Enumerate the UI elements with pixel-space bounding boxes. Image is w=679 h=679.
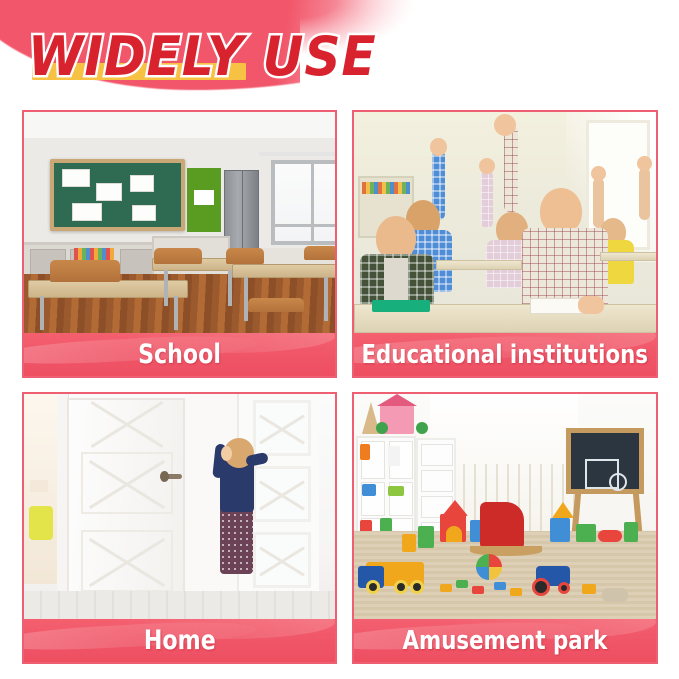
- toy-topiary: [416, 422, 428, 434]
- classroom-desk: [600, 252, 656, 261]
- desk-leg: [174, 296, 178, 330]
- desk-leg: [164, 270, 168, 306]
- toy-plush: [602, 588, 628, 602]
- wall-art: [30, 480, 48, 492]
- panel-school[interactable]: School: [22, 110, 337, 378]
- hand: [578, 296, 604, 314]
- classroom-chalkboard: [50, 159, 185, 231]
- toy-topiary: [376, 422, 388, 434]
- panel-label-text: School: [138, 340, 221, 370]
- widely-use-infographic: WIDELY USE: [0, 0, 679, 679]
- classroom-green-wall-panel: [187, 168, 221, 232]
- board-paper: [130, 175, 154, 192]
- panel-label-text: Educational institutions: [362, 340, 649, 370]
- truck-wheel: [394, 580, 408, 594]
- green-notebook: [372, 300, 430, 312]
- panel-label-text: Amusement park: [403, 626, 608, 656]
- door-glass-pane: [253, 532, 311, 588]
- panel-label-educational-institutions: Educational institutions: [354, 333, 656, 376]
- shelf-toy: [388, 446, 400, 466]
- panel-label-text: Home: [144, 626, 216, 656]
- toy-block: [550, 518, 570, 542]
- raised-arm: [593, 178, 604, 228]
- toy-block: [494, 582, 506, 590]
- board-paper: [62, 169, 90, 187]
- hand: [591, 166, 606, 181]
- classroom-curtain-rail: [259, 152, 335, 156]
- panel-label-home: Home: [24, 619, 335, 662]
- classroom-chair: [248, 298, 304, 312]
- truck-wheel: [410, 580, 424, 594]
- toy-ball: [476, 554, 502, 580]
- panel-label-school: School: [24, 333, 335, 376]
- shelf-toy: [362, 484, 376, 496]
- toy-block: [598, 530, 622, 542]
- wall-paper: [194, 190, 214, 205]
- photo-toddler-at-door: [24, 394, 335, 619]
- toy-block: [440, 584, 452, 592]
- desk-leg: [40, 296, 44, 330]
- door-panel-x: [85, 406, 169, 440]
- shelf-books: [362, 182, 410, 194]
- drawer: [421, 444, 453, 466]
- toy-block-roof: [442, 500, 468, 516]
- classroom-ceiling: [24, 112, 335, 138]
- shelf-toy: [388, 486, 404, 496]
- toy-block: [582, 584, 596, 594]
- panel-home[interactable]: Home: [22, 392, 337, 664]
- toy-block: [472, 586, 484, 594]
- classroom-chair: [50, 260, 120, 282]
- toy-block: [418, 526, 434, 548]
- board-paper: [96, 183, 122, 201]
- board-paper: [72, 203, 102, 221]
- classroom-chair: [226, 248, 264, 264]
- door-panel-x: [81, 530, 173, 592]
- hand: [494, 114, 516, 136]
- classroom-desk: [436, 260, 522, 270]
- tractor-wheel: [558, 582, 570, 594]
- raised-arm: [639, 168, 650, 220]
- classroom-chair: [304, 246, 335, 260]
- shelf-toy: [360, 444, 370, 460]
- desk-leg: [324, 277, 328, 321]
- desk-leg: [244, 277, 248, 321]
- door-panel-x: [81, 452, 173, 514]
- wood-floor: [24, 591, 335, 619]
- toy-block: [624, 522, 638, 542]
- door-panel-x: [256, 403, 308, 453]
- page-title: WIDELY USE: [28, 28, 648, 90]
- panel-amusement-park[interactable]: Amusement park: [352, 392, 658, 664]
- rocking-horse: [480, 502, 524, 548]
- toy-block: [510, 588, 522, 596]
- hand: [430, 138, 447, 156]
- yellow-chair: [29, 506, 53, 540]
- hand: [479, 158, 495, 174]
- toy-block: [402, 534, 416, 552]
- panelled-door: [67, 398, 185, 598]
- truck-wheel: [366, 580, 380, 594]
- drawer: [421, 470, 453, 492]
- child-pants: [220, 506, 253, 574]
- classroom-chair: [154, 248, 202, 264]
- door-panel-x: [256, 469, 308, 519]
- photo-kids-raising-hands: [354, 112, 656, 333]
- toy-arch: [446, 526, 462, 542]
- chalkboard-easel: [566, 428, 644, 494]
- classroom-desk: [232, 264, 335, 278]
- board-paper: [132, 205, 156, 221]
- tractor-wheel: [532, 578, 550, 596]
- raised-arm: [481, 170, 493, 228]
- horse-rocker: [470, 546, 542, 556]
- chalk-sun-drawing: [609, 473, 627, 491]
- toy-cone: [552, 502, 574, 518]
- door-glass-pane: [253, 466, 311, 522]
- panel-label-amusement-park: Amusement park: [354, 619, 656, 662]
- hand: [637, 156, 652, 171]
- page-title-text: WIDELY USE: [28, 28, 377, 86]
- door-panel-x: [256, 535, 308, 585]
- photo-classroom: [24, 112, 335, 333]
- raised-arm: [504, 126, 518, 212]
- door-handle: [164, 474, 182, 479]
- toy-block: [576, 524, 596, 542]
- classroom-window: [271, 160, 335, 245]
- chalk-roof: [581, 445, 625, 461]
- photo-playroom: [354, 394, 656, 619]
- panel-educational-institutions[interactable]: Educational institutions: [352, 110, 658, 378]
- toy-block: [456, 580, 468, 588]
- child-face: [221, 446, 232, 461]
- door-glass-pane: [253, 400, 311, 456]
